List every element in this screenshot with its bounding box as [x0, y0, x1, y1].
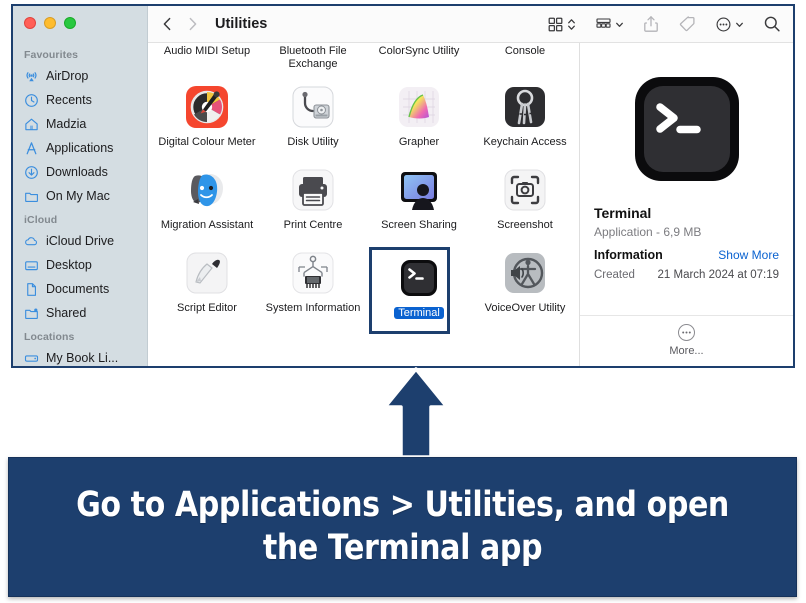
- grid-item[interactable]: Audio MIDI Setup: [154, 45, 260, 71]
- applications-icon: [24, 141, 39, 156]
- grid-item[interactable]: Keychain Access: [472, 83, 578, 149]
- cloud-icon: [24, 234, 39, 249]
- sidebar-item-label: Shared: [46, 306, 86, 320]
- grid-item-label: Audio MIDI Setup: [164, 45, 250, 57]
- grid-item-label: Keychain Access: [483, 136, 566, 148]
- window-controls[interactable]: [24, 17, 76, 29]
- up-down-chevron-icon: [567, 17, 576, 32]
- instruction-text: Go to Applications > Utilities, and open…: [64, 484, 741, 570]
- digital-colour-meter-icon: [183, 83, 231, 131]
- sidebar-item-label: My Book Li...: [46, 351, 118, 365]
- sidebar-item-label: Documents: [46, 282, 109, 296]
- more-ellipsis-icon: [715, 16, 732, 33]
- sidebar-item-on-my-mac[interactable]: On My Mac: [13, 184, 147, 208]
- grid-item-label: System Information: [266, 302, 361, 314]
- home-icon: [24, 117, 39, 132]
- finder-sidebar: Favourites AirDrop Recents Madzia Applic…: [13, 6, 148, 366]
- grid-item[interactable]: Disk Utility: [260, 83, 366, 149]
- minimize-button[interactable]: [44, 17, 56, 29]
- chevron-down-icon: [615, 17, 624, 32]
- chevron-down-icon: [735, 17, 744, 32]
- sidebar-item-label: On My Mac: [46, 189, 110, 203]
- group-by-icon: [595, 16, 612, 33]
- finder-content: Audio MIDI Setup Bluetooth File Exchange…: [148, 43, 793, 366]
- sidebar-item-icloud-drive[interactable]: iCloud Drive: [13, 229, 147, 253]
- screenshot-root: Favourites AirDrop Recents Madzia Applic…: [0, 0, 806, 603]
- sidebar-item-label: iCloud Drive: [46, 234, 114, 248]
- terminal-icon-large: [623, 65, 751, 193]
- preview-icon-wrap: [580, 43, 793, 193]
- disk-utility-icon: [289, 83, 337, 131]
- preview-footer[interactable]: More...: [580, 315, 793, 366]
- sidebar-item-downloads[interactable]: Downloads: [13, 160, 147, 184]
- group-by-button[interactable]: [595, 16, 624, 33]
- view-mode-button[interactable]: [547, 16, 576, 33]
- sidebar-scroll-area[interactable]: Favourites AirDrop Recents Madzia Applic…: [13, 43, 147, 366]
- preview-section-label: Information: [594, 248, 663, 262]
- nav-buttons[interactable]: [148, 16, 198, 32]
- share-icon[interactable]: [643, 15, 659, 33]
- grid-row: Script Editor: [154, 249, 573, 320]
- migration-assistant-icon: [183, 166, 231, 214]
- system-information-icon: [289, 249, 337, 297]
- keychain-access-icon: [501, 83, 549, 131]
- grid-row: Migration Assistant Print C: [154, 166, 573, 232]
- grid-item[interactable]: VoiceOver Utility: [472, 249, 578, 320]
- preview-created-value: 21 March 2024 at 07:19: [658, 269, 779, 281]
- sidebar-item-label: Downloads: [46, 165, 108, 179]
- icon-grid[interactable]: Audio MIDI Setup Bluetooth File Exchange…: [148, 43, 579, 366]
- preview-title: Terminal: [594, 205, 779, 221]
- script-editor-icon: [183, 249, 231, 297]
- grapher-icon: [395, 83, 443, 131]
- window-title: Utilities: [215, 16, 267, 32]
- sidebar-item-my-book[interactable]: My Book Li...: [13, 346, 147, 366]
- preview-panel: Terminal Application - 6,9 MB Informatio…: [579, 43, 793, 366]
- grid-item-label: Disk Utility: [287, 136, 338, 148]
- screen-sharing-icon: [395, 166, 443, 214]
- grid-item[interactable]: Script Editor: [154, 249, 260, 320]
- preview-info: Terminal Application - 6,9 MB Informatio…: [580, 193, 793, 281]
- grid-item[interactable]: ColorSync Utility: [366, 45, 472, 71]
- airdrop-icon: [24, 69, 39, 84]
- voiceover-utility-icon: [501, 249, 549, 297]
- sidebar-item-airdrop[interactable]: AirDrop: [13, 64, 147, 88]
- grid-item[interactable]: Screen Sharing: [366, 166, 472, 232]
- sidebar-item-label: Recents: [46, 93, 92, 107]
- grid-item-label: Print Centre: [284, 219, 343, 231]
- document-icon: [24, 282, 39, 297]
- shared-folder-icon: [24, 306, 39, 321]
- zoom-button[interactable]: [64, 17, 76, 29]
- preview-subtitle: Application - 6,9 MB: [594, 225, 779, 239]
- preview-created-key: Created: [594, 269, 635, 281]
- grid-item-label: Digital Colour Meter: [158, 136, 255, 148]
- print-centre-icon: [289, 166, 337, 214]
- preview-created-row: Created 21 March 2024 at 07:19: [594, 269, 779, 281]
- more-ellipsis-icon[interactable]: [677, 323, 696, 342]
- sidebar-item-label: Desktop: [46, 258, 92, 272]
- preview-information-row: Information Show More: [594, 248, 779, 262]
- grid-item-label: Grapher: [399, 136, 439, 148]
- close-button[interactable]: [24, 17, 36, 29]
- finder-window: Favourites AirDrop Recents Madzia Applic…: [11, 4, 795, 368]
- grid-item-terminal-selected[interactable]: Terminal: [366, 249, 472, 320]
- sidebar-section-icloud-header: iCloud: [13, 208, 147, 229]
- grid-row: Audio MIDI Setup Bluetooth File Exchange…: [154, 45, 573, 71]
- sidebar-item-madzia[interactable]: Madzia: [13, 112, 147, 136]
- terminal-icon: [395, 254, 443, 302]
- finder-main-column: Utilities: [148, 6, 793, 366]
- grid-item-label: Screen Sharing: [381, 219, 457, 231]
- sidebar-section-locations-header: Locations: [13, 325, 147, 346]
- sidebar-item-recents[interactable]: Recents: [13, 88, 147, 112]
- grid-row: Digital Colour Meter: [154, 83, 573, 149]
- more-actions-button[interactable]: [715, 16, 744, 33]
- toolbar-actions: [547, 15, 781, 33]
- sidebar-item-shared[interactable]: Shared: [13, 301, 147, 325]
- grid-item-label: Script Editor: [177, 302, 237, 314]
- sidebar-item-label: AirDrop: [46, 69, 88, 83]
- grid-item[interactable]: Print Centre: [260, 166, 366, 232]
- grid-item-label: ColorSync Utility: [379, 45, 460, 57]
- grid-view-icon: [547, 16, 564, 33]
- grid-item[interactable]: Console: [472, 45, 578, 71]
- instruction-banner: Go to Applications > Utilities, and open…: [8, 457, 797, 597]
- sidebar-item-documents[interactable]: Documents: [13, 277, 147, 301]
- grid-item[interactable]: Screenshot: [472, 166, 578, 232]
- up-arrow-pointer: [381, 366, 451, 462]
- sidebar-item-applications[interactable]: Applications: [13, 136, 147, 160]
- search-icon[interactable]: [763, 15, 781, 33]
- grid-item-label: Console: [505, 45, 545, 57]
- grid-item[interactable]: Grapher: [366, 83, 472, 149]
- grid-item[interactable]: Digital Colour Meter: [154, 83, 260, 149]
- forward-chevron-icon[interactable]: [187, 16, 198, 32]
- folder-icon: [24, 189, 39, 204]
- show-more-link[interactable]: Show More: [718, 248, 779, 262]
- preview-more-label: More...: [669, 345, 703, 357]
- grid-item[interactable]: Bluetooth File Exchange: [260, 45, 366, 71]
- grid-item-label: VoiceOver Utility: [485, 302, 566, 314]
- grid-item-label: Bluetooth File Exchange: [279, 45, 346, 70]
- tag-icon[interactable]: [678, 15, 696, 33]
- sidebar-section-favourites-header: Favourites: [13, 43, 147, 64]
- grid-item-label: Migration Assistant: [161, 219, 253, 231]
- back-chevron-icon[interactable]: [162, 16, 173, 32]
- grid-item[interactable]: Migration Assistant: [154, 166, 260, 232]
- clock-icon: [24, 93, 39, 108]
- finder-toolbar: Utilities: [148, 6, 793, 43]
- grid-item-label: Terminal: [394, 307, 444, 319]
- screenshot-icon: [501, 166, 549, 214]
- desktop-icon: [24, 258, 39, 273]
- drive-icon: [24, 351, 39, 366]
- sidebar-item-label: Madzia: [46, 117, 86, 131]
- grid-item-label: Screenshot: [497, 219, 553, 231]
- sidebar-item-label: Applications: [46, 141, 113, 155]
- grid-item[interactable]: System Information: [260, 249, 366, 320]
- downloads-icon: [24, 165, 39, 180]
- sidebar-item-desktop[interactable]: Desktop: [13, 253, 147, 277]
